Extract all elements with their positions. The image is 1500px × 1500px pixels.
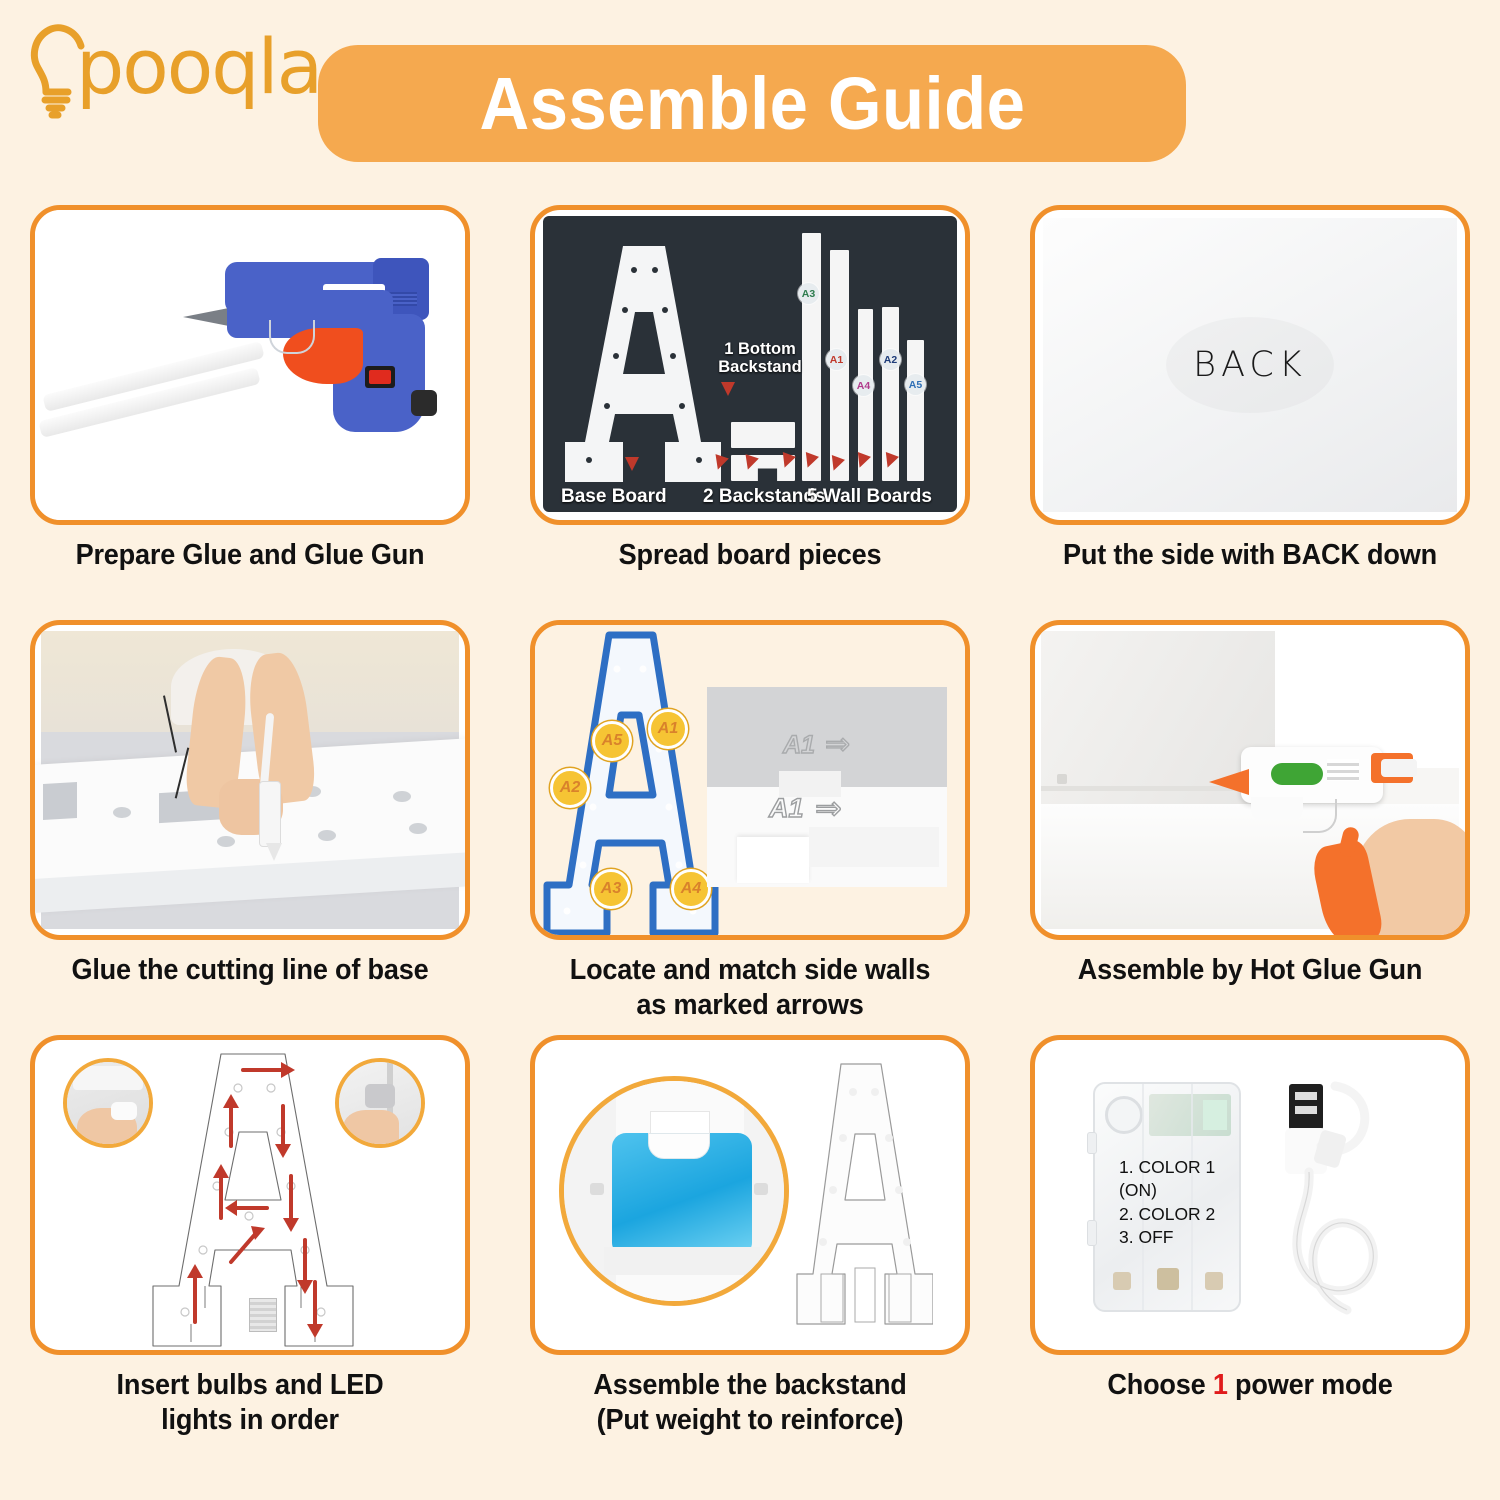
corner-mark [1057, 774, 1067, 784]
battery-box-and-usb-cable-photo: 1. COLOR 1 (ON) 2. COLOR 2 3. OFF [1035, 1040, 1465, 1350]
step-9-caption-prefix: Choose [1107, 1369, 1212, 1401]
photo-scene [41, 631, 459, 929]
step-9-caption-number: 1 [1213, 1369, 1228, 1401]
badge-a5: A5 [905, 374, 926, 395]
callout-line-1: 1 Bottom [690, 340, 830, 358]
step-6-image-panel [1030, 620, 1470, 940]
peg-right [754, 1183, 768, 1195]
weight-handle-gap [648, 1133, 710, 1159]
battery-contact [1205, 1272, 1223, 1290]
badge-a2: A2 [880, 349, 901, 370]
hot-glue-gun-assembly-photo [1035, 625, 1465, 935]
step-8-caption-line-2: (Put weight to reinforce) [527, 1403, 974, 1438]
photo-scene [1041, 631, 1459, 929]
board-hole [318, 830, 336, 841]
step-3-image-panel: BACK [1030, 205, 1470, 525]
glue-gun-vents [1327, 759, 1359, 781]
step-9-caption-suffix: power mode [1228, 1369, 1393, 1401]
step-2-image-panel: A3 A1 A4 A2 A5 1 Bottom Backstand Base B… [530, 205, 970, 525]
step-5-caption-line-2: as marked arrows [527, 988, 974, 1023]
badge-a1: A1 [648, 709, 688, 749]
step-6-caption: Assemble by Hot Glue Gun [1027, 953, 1474, 988]
power-mode-3: 3. OFF [1119, 1226, 1239, 1249]
label-base-board: Base Board [561, 486, 667, 508]
led-socket [249, 1298, 277, 1332]
board-hole [217, 836, 235, 847]
step-card-2: A3 A1 A4 A2 A5 1 Bottom Backstand Base B… [500, 205, 1000, 620]
glue-applicator-tip [266, 843, 282, 861]
glue-stick-loaded [1381, 759, 1417, 777]
shelf [604, 1247, 760, 1275]
step-5-caption: Locate and match side walls as marked ar… [527, 953, 974, 1023]
peg-left [590, 1183, 604, 1195]
insert-bulbs-order-diagram [35, 1040, 465, 1350]
step-8-caption: Assemble the backstand (Put weight to re… [527, 1368, 974, 1438]
weight-inset-photo [559, 1076, 789, 1306]
match-side-walls-diagram: A1 A2 A3 A4 A5 A1 ⇒ A1 ⇒ [535, 625, 965, 935]
step-9-image-panel: 1. COLOR 1 (ON) 2. COLOR 2 3. OFF [1030, 1035, 1470, 1355]
usb-cable [1275, 1080, 1455, 1320]
badge-a4: A4 [671, 869, 711, 909]
battery-box: 1. COLOR 1 (ON) 2. COLOR 2 3. OFF [1093, 1082, 1241, 1312]
badge-a2: A2 [550, 768, 590, 808]
photo-arrow-upper-icon: ⇒ [825, 727, 850, 762]
back-label: BACK [1193, 345, 1307, 385]
board-hole [393, 791, 411, 802]
photo-mark-a1-upper: A1 [783, 731, 815, 760]
backstand-weight-photo [535, 1040, 965, 1350]
page-header: pooqla Assemble Guide [0, 0, 1500, 195]
glue-gun-and-sticks-photo [35, 210, 465, 520]
step-card-7: Insert bulbs and LED lights in order [0, 1035, 500, 1450]
badge-a4: A4 [853, 375, 874, 396]
step-4-caption: Glue the cutting line of base [27, 953, 474, 988]
badge-a5: A5 [592, 721, 632, 761]
step-5-caption-line-1: Locate and match side walls [527, 953, 974, 988]
photo-arrow-lower-icon: ⇒ [815, 789, 842, 827]
glue-applicator-body [259, 781, 281, 847]
board-hole [113, 807, 131, 818]
power-mode-list: 1. COLOR 1 (ON) 2. COLOR 2 3. OFF [1119, 1156, 1239, 1249]
steps-grid: Prepare Glue and Glue Gun [0, 205, 1500, 1450]
step-7-caption: Insert bulbs and LED lights in order [27, 1368, 474, 1438]
board-pieces-diagram: A3 A1 A4 A2 A5 1 Bottom Backstand Base B… [535, 210, 965, 520]
glue-gun-label [1271, 763, 1323, 785]
step-2-caption: Spread board pieces [527, 538, 974, 573]
step-card-9: 1. COLOR 1 (ON) 2. COLOR 2 3. OFF [1000, 1035, 1500, 1450]
step-7-image-panel [30, 1035, 470, 1355]
step-4-image-panel [30, 620, 470, 940]
step-card-8: Assemble the backstand (Put weight to re… [500, 1035, 1000, 1450]
assembled-letter-a [793, 1062, 933, 1340]
gluing-base-photo [35, 625, 465, 935]
step-1-caption: Prepare Glue and Glue Gun [27, 538, 474, 573]
callout-line-2: Backstand [690, 358, 830, 376]
step-7-caption-line-2: lights in order [27, 1403, 474, 1438]
glue-gun-underside [1251, 797, 1303, 819]
pointer-arrow-base [625, 457, 639, 471]
cable-wire [1275, 1080, 1455, 1320]
step-card-1: Prepare Glue and Glue Gun [0, 205, 500, 620]
step-8-image-panel [530, 1035, 970, 1355]
page-title-banner: Assemble Guide [318, 45, 1186, 162]
box-tab-upper [1087, 1132, 1097, 1154]
box-tab-lower [1087, 1220, 1097, 1246]
step-card-3: BACK Put the side with BACK down [1000, 205, 1500, 620]
step-card-4: Glue the cutting line of base [0, 620, 500, 1035]
brand-logo: pooqla [24, 18, 321, 123]
step-1-image-panel [30, 205, 470, 525]
glue-gun-nozzle-icon [1209, 769, 1249, 795]
step-7-caption-line-1: Insert bulbs and LED [27, 1368, 474, 1403]
step-8-caption-line-1: Assemble the backstand [527, 1368, 974, 1403]
back-side-board-photo: BACK [1035, 210, 1465, 520]
step-3-caption: Put the side with BACK down [1027, 538, 1474, 573]
board-hole [409, 823, 427, 834]
bottom-backstand-callout: 1 Bottom Backstand [690, 340, 830, 376]
backstand-piece-1 [731, 422, 795, 448]
step-9-caption: Choose 1 power mode [1027, 1368, 1474, 1403]
wall-board-a5 [907, 340, 924, 481]
step-card-5: A1 A2 A3 A4 A5 A1 ⇒ A1 ⇒ [500, 620, 1000, 1035]
step-5-image-panel: A1 A2 A3 A4 A5 A1 ⇒ A1 ⇒ [530, 620, 970, 940]
label-5-wall-boards: 5 Wall Boards [807, 486, 932, 508]
power-mode-2: 2. COLOR 2 [1119, 1203, 1239, 1226]
callout-arrow-icon [721, 382, 735, 396]
board-cutout-left [43, 782, 77, 820]
power-mode-1: 1. COLOR 1 (ON) [1119, 1156, 1239, 1203]
page-title: Assemble Guide [479, 61, 1025, 146]
bulb-insert-inset-photo [63, 1058, 153, 1148]
brand-name: pooqla [76, 29, 321, 113]
battery-contact [1157, 1268, 1179, 1290]
led-screw-inset-photo [335, 1058, 425, 1148]
battery-contact [1113, 1272, 1131, 1290]
step-card-6: Assemble by Hot Glue Gun [1000, 620, 1500, 1035]
side-wall-photo: A1 ⇒ A1 ⇒ [707, 687, 947, 887]
photo-mark-a1-lower: A1 [769, 793, 804, 824]
badge-a3: A3 [798, 283, 819, 304]
badge-a3: A3 [591, 869, 631, 909]
